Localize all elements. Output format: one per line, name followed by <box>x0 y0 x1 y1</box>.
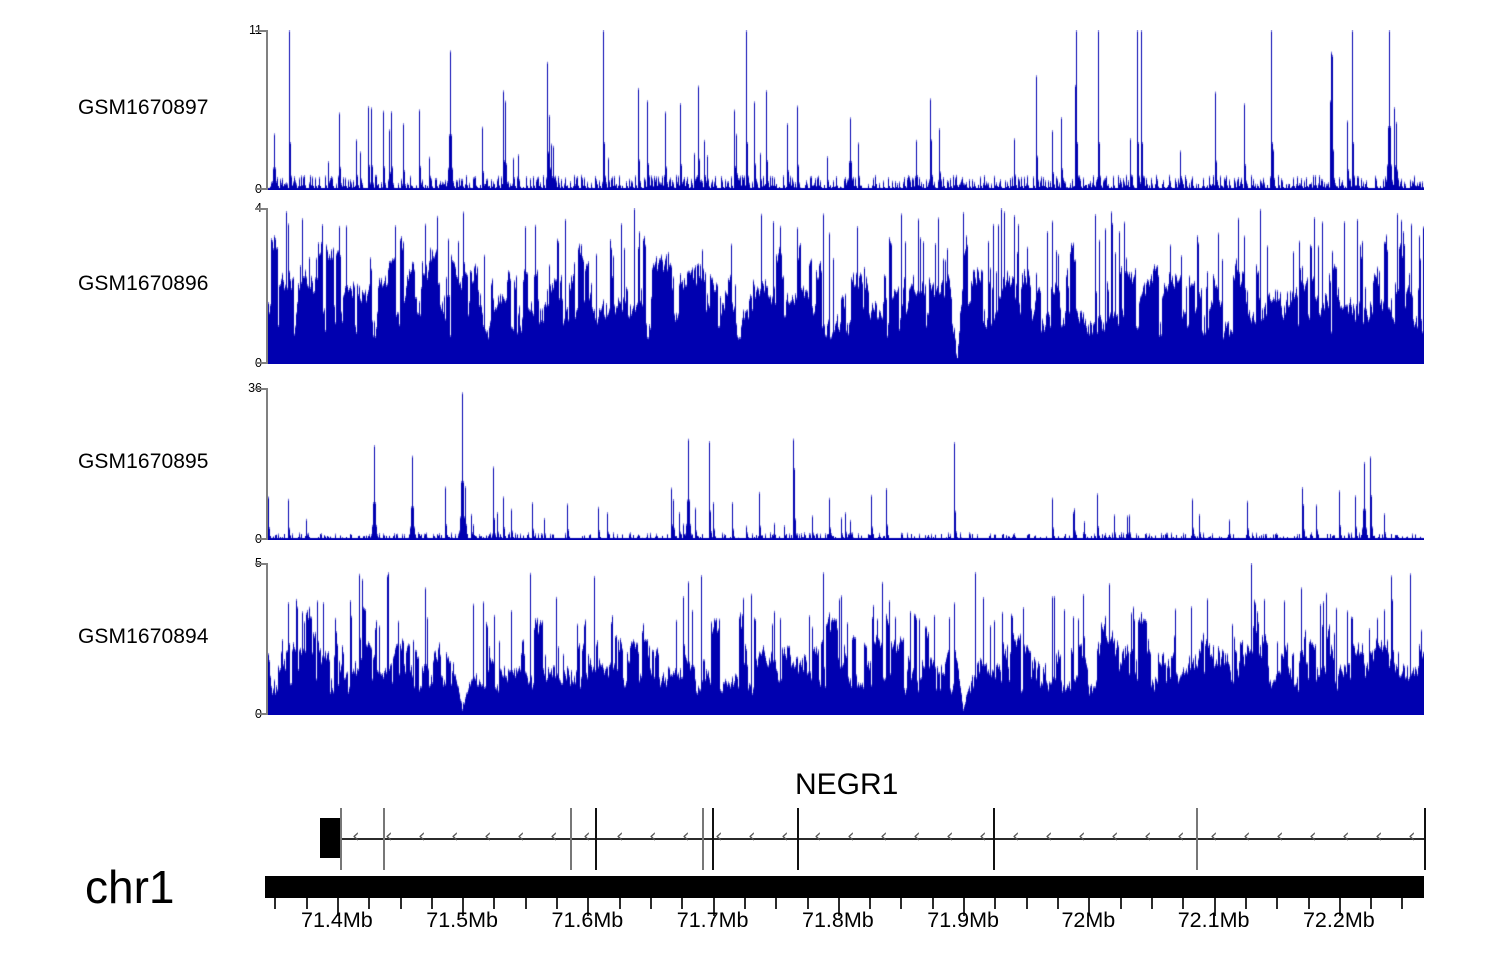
coverage-histogram <box>268 208 1424 364</box>
coverage-track[interactable]: GSM1670895360 <box>0 388 1500 540</box>
strand-direction-arrow-icon: ‹ <box>484 827 492 846</box>
strand-direction-arrow-icon: ‹ <box>847 827 855 846</box>
ruler-tick-label: 72Mb <box>1028 908 1148 933</box>
ruler-tick-label: 71.7Mb <box>653 908 773 933</box>
strand-direction-arrow-icon: ‹ <box>1144 827 1152 846</box>
ruler-tick-label: 72.2Mb <box>1279 908 1399 933</box>
strand-direction-arrow-icon: ‹ <box>1210 827 1218 846</box>
strand-direction-arrow-icon: ‹ <box>385 827 393 846</box>
strand-direction-arrow-icon: ‹ <box>715 827 723 846</box>
y-axis-tick-max <box>255 208 267 210</box>
y-axis-tick-max <box>255 30 267 32</box>
strand-direction-arrow-icon: ‹ <box>814 827 822 846</box>
ruler-tick-label: 71.9Mb <box>903 908 1023 933</box>
coverage-track[interactable]: GSM167089450 <box>0 563 1500 715</box>
strand-direction-arrow-icon: ‹ <box>352 827 360 846</box>
coverage-plot-area[interactable] <box>268 563 1424 715</box>
gene-exon-marker[interactable] <box>1196 808 1198 870</box>
strand-direction-arrow-icon: ‹ <box>583 827 591 846</box>
coverage-histogram <box>268 30 1424 190</box>
coverage-histogram <box>268 388 1424 540</box>
strand-direction-arrow-icon: ‹ <box>946 827 954 846</box>
track-sample-label: GSM1670895 <box>78 450 209 474</box>
strand-direction-arrow-icon: ‹ <box>781 827 789 846</box>
strand-direction-arrow-icon: ‹ <box>1111 827 1119 846</box>
gene-intron-line <box>332 838 1424 840</box>
y-axis-tick-max <box>255 563 267 565</box>
strand-direction-arrow-icon: ‹ <box>616 827 624 846</box>
ruler-tick-label: 71.6Mb <box>527 908 647 933</box>
y-axis-tick-min <box>255 362 267 364</box>
coverage-plot-area[interactable] <box>268 388 1424 540</box>
coverage-track[interactable]: GSM1670897110 <box>0 30 1500 190</box>
gene-exon-marker[interactable] <box>702 808 704 870</box>
coverage-plot-area[interactable] <box>268 30 1424 190</box>
strand-direction-arrow-icon: ‹ <box>748 827 756 846</box>
y-axis-tick-min <box>255 713 267 715</box>
strand-direction-arrow-icon: ‹ <box>1243 827 1251 846</box>
strand-direction-arrow-icon: ‹ <box>1309 827 1317 846</box>
y-axis-tick-min <box>255 538 267 540</box>
strand-direction-arrow-icon: ‹ <box>1045 827 1053 846</box>
strand-direction-arrow-icon: ‹ <box>550 827 558 846</box>
strand-direction-arrow-icon: ‹ <box>979 827 987 846</box>
strand-direction-arrow-icon: ‹ <box>451 827 459 846</box>
strand-direction-arrow-icon: ‹ <box>1276 827 1284 846</box>
coverage-track[interactable]: GSM167089640 <box>0 208 1500 364</box>
strand-direction-arrow-icon: ‹ <box>418 827 426 846</box>
ruler-minor-tick <box>1401 898 1403 909</box>
y-axis-tick-max <box>255 388 267 390</box>
track-sample-label: GSM1670897 <box>78 96 209 120</box>
strand-direction-arrow-icon: ‹ <box>682 827 690 846</box>
gene-exon-marker[interactable] <box>993 808 995 870</box>
gene-exon-marker[interactable] <box>340 808 342 870</box>
strand-direction-arrow-icon: ‹ <box>1342 827 1350 846</box>
ruler-tick-label: 71.4Mb <box>277 908 397 933</box>
strand-direction-arrow-icon: ‹ <box>1408 827 1416 846</box>
strand-direction-arrow-icon: ‹ <box>1078 827 1086 846</box>
gene-exon-marker[interactable] <box>570 808 572 870</box>
strand-direction-arrow-icon: ‹ <box>913 827 921 846</box>
gene-name-label: NEGR1 <box>795 768 898 802</box>
ruler-tick-label: 71.5Mb <box>402 908 522 933</box>
genome-browser-view: GSM1670897110GSM167089640GSM1670895360GS… <box>0 0 1500 980</box>
coverage-histogram <box>268 563 1424 715</box>
gene-exon-marker[interactable] <box>712 808 714 870</box>
gene-exon-marker[interactable] <box>1424 808 1426 870</box>
strand-direction-arrow-icon: ‹ <box>649 827 657 846</box>
strand-direction-arrow-icon: ‹ <box>880 827 888 846</box>
gene-exon-marker[interactable] <box>797 808 799 870</box>
strand-direction-arrow-icon: ‹ <box>1012 827 1020 846</box>
strand-direction-arrow-icon: ‹ <box>517 827 525 846</box>
ruler-tick-label: 72.1Mb <box>1154 908 1274 933</box>
track-sample-label: GSM1670896 <box>78 272 209 296</box>
coverage-plot-area[interactable] <box>268 208 1424 364</box>
strand-direction-arrow-icon: ‹ <box>1177 827 1185 846</box>
y-axis-tick-min <box>255 188 267 190</box>
chromosome-ideogram-bar[interactable] <box>265 876 1424 898</box>
track-sample-label: GSM1670894 <box>78 625 209 649</box>
chromosome-label: chr1 <box>85 860 174 914</box>
ruler-tick-label: 71.8Mb <box>778 908 898 933</box>
gene-exon-marker[interactable] <box>595 808 597 870</box>
strand-direction-arrow-icon: ‹ <box>1375 827 1383 846</box>
gene-utr-block[interactable] <box>320 818 342 858</box>
